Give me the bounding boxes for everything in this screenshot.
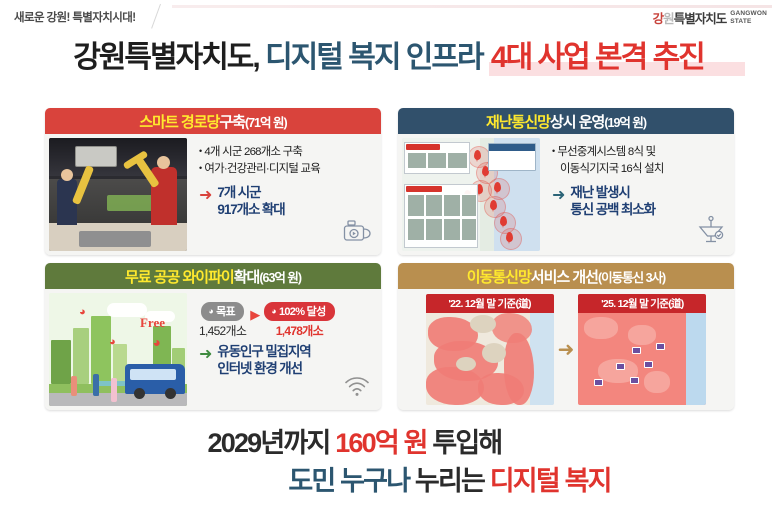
list-item: 4개 시군 268개소 구축 — [199, 144, 373, 161]
coverage-map-before: '22. 12월 말 기준(道) — [426, 294, 554, 405]
card-header-highlight: 재난통신망 — [486, 111, 550, 132]
footer-line2-red: 디지털 복지 — [490, 466, 611, 496]
map-legend — [488, 143, 536, 171]
conclusion-text: 유동인구 밀집지역 인터넷 환경 개선 — [217, 343, 310, 377]
wifi-icon — [343, 375, 371, 402]
top-bar: 새로운 강원! 특별자치시대! 강원특별자치도 GANGWON STATE — [0, 0, 779, 33]
card-header-highlight: 무료 공공 와이파이 — [125, 266, 234, 287]
card-header-rest: 서비스 개선 — [531, 266, 598, 287]
wifi-icon: ◕ — [153, 337, 161, 348]
conclusion-line-1: 재난 발생시 — [570, 185, 629, 200]
bus-graphic — [125, 364, 185, 394]
satellite-dish-icon — [696, 214, 726, 249]
senior-center-photo — [49, 138, 187, 251]
card-body: ◕ ◕ ◕ Free ◕ 목표 1,452개소 ▶ — [45, 289, 381, 410]
card-header-amount: (19억 원) — [604, 112, 646, 131]
brand-logo: 강원특별자치도 GANGWON STATE — [653, 8, 767, 27]
coverage-before-image — [426, 313, 554, 405]
achieved-pill: ◕ 102% 달성 — [264, 302, 334, 321]
bullet-list: 무선중계시스템 8식 및 이동식기지국 16식 설치 — [552, 144, 726, 177]
coverage-before-caption: '22. 12월 말 기준(道) — [426, 294, 554, 313]
card-public-wifi[interactable]: 무료 공공 와이파이 확대(63억 원) — [45, 263, 381, 410]
card-mobile-network[interactable]: 이동통신망 서비스 개선(이동통신 3사) '22. 12월 말 기준(道) — [398, 263, 734, 410]
page-title: 강원특별자치도, 디지털 복지 인프라 4대 사업 본격 추진 — [0, 38, 779, 78]
conclusion-line-1: 유동인구 밀집지역 — [217, 344, 310, 359]
list-item: 이동식기지국 16식 설치 — [552, 161, 726, 178]
goal-pill: ◕ 목표 — [201, 302, 244, 321]
tagline-divider — [151, 4, 161, 29]
card-body: 4개 시군 268개소 구축 여가·건강관리·디지털 교육 ➜ 7개 시군 91… — [45, 134, 381, 255]
title-part-red: 4대 사업 본격 추진 — [489, 41, 706, 74]
brand-en-line2: STATE — [730, 18, 767, 26]
achieved-pill-label: 102% 달성 — [279, 303, 326, 319]
list-item: 무선중계시스템 8식 및 — [552, 144, 726, 161]
title-part-black: 강원특별자치도, — [73, 41, 265, 74]
footer-line-2: 도민 누구나 누리는 디지털 복지 — [0, 462, 779, 500]
brand-korean-name: 강원특별자치도 — [653, 8, 727, 27]
wifi-icon: ◕ — [208, 306, 213, 316]
brand-ko-1: 강 — [653, 12, 664, 26]
card-header: 이동통신망 서비스 개선(이동통신 3사) — [398, 263, 734, 289]
coverage-comparison: '22. 12월 말 기준(道) ➜ — [402, 293, 730, 406]
arrow-right-icon: ➜ — [558, 340, 575, 360]
card-header-amount: (이동통신 3사) — [598, 267, 665, 286]
card-header-rest: 확대 — [234, 266, 260, 287]
arrow-right-icon: ➜ — [199, 188, 212, 204]
wifi-metrics: ◕ 목표 1,452개소 ▶ ◕ 102% 달성 1,478개소 — [199, 301, 373, 339]
footer-message: 2029년까지 160억 원 투입해 도민 누구나 누리는 디지털 복지 — [0, 424, 779, 500]
conclusion-line-2: 917개소 확대 — [217, 202, 284, 217]
wifi-icon: ◕ — [79, 307, 86, 318]
conclusion-text: 재난 발생시 통신 공백 최소화 — [570, 184, 655, 218]
conclusion-line-1: 7개 시군 — [217, 185, 260, 200]
goal-metric: ◕ 목표 1,452개소 — [199, 301, 246, 339]
tagline: 새로운 강원! 특별자치시대! — [14, 9, 135, 25]
card-conclusion: ➜ 7개 시군 917개소 확대 — [199, 184, 373, 218]
card-text: ◕ 목표 1,452개소 ▶ ◕ 102% 달성 1,478개소 — [193, 293, 377, 406]
chevron-right-icon: ▶ — [250, 308, 260, 321]
card-grid: 스마트 경로당 구축(71억 원) 4개 시군 268개소 구축 여가·건강관리… — [45, 108, 734, 415]
footer-line1-amount: 160억 원 — [335, 428, 426, 458]
card-text: 4개 시군 268개소 구축 여가·건강관리·디지털 교육 ➜ 7개 시군 91… — [193, 138, 377, 251]
card-header-amount: (63억 원) — [259, 267, 301, 286]
arrow-right-icon: ➜ — [199, 347, 212, 363]
achieved-metric: ◕ 102% 달성 1,478개소 — [264, 301, 334, 339]
coverage-map-after: '25. 12월 말 기준(道) — [578, 294, 706, 405]
card-body: 무선중계시스템 8식 및 이동식기지국 16식 설치 ➜ 재난 발생시 통신 공… — [398, 134, 734, 255]
card-disaster-network[interactable]: 재난통신망 상시 운영(19억 원) — [398, 108, 734, 255]
arrow-right-icon: ➜ — [552, 188, 565, 204]
card-header-rest: 구축 — [219, 111, 245, 132]
card-header-highlight: 스마트 경로당 — [139, 111, 219, 132]
wifi-icon: ◕ — [109, 337, 116, 348]
card-body: '22. 12월 말 기준(道) ➜ — [398, 289, 734, 410]
brand-ko-3: 특별자치도 — [674, 12, 727, 26]
card-header: 무료 공공 와이파이 확대(63억 원) — [45, 263, 381, 289]
projector-icon — [343, 218, 373, 249]
goal-pill-label: 목표 — [216, 303, 235, 319]
card-conclusion: ➜ 재난 발생시 통신 공백 최소화 — [552, 184, 726, 218]
card-header-rest: 상시 운영 — [550, 111, 604, 132]
wifi-icon: ◕ — [271, 306, 276, 316]
card-smart-senior-center[interactable]: 스마트 경로당 구축(71억 원) 4개 시군 268개소 구축 여가·건강관리… — [45, 108, 381, 255]
footer-line-1: 2029년까지 160억 원 투입해 — [0, 424, 779, 462]
brand-en-line1: GANGWON — [730, 10, 767, 18]
card-header-amount: (71억 원) — [245, 112, 287, 131]
disaster-coverage-map — [402, 138, 540, 251]
conclusion-line-2: 인터넷 환경 개선 — [217, 361, 302, 376]
card-header-highlight: 이동통신망 — [467, 266, 531, 287]
title-part-navy: 디지털 복지 인프라 — [265, 41, 489, 74]
card-text: 무선중계시스템 8식 및 이동식기지국 16식 설치 ➜ 재난 발생시 통신 공… — [546, 138, 730, 251]
brand-english-name: GANGWON STATE — [730, 10, 767, 25]
photo-strip-top — [404, 142, 470, 174]
card-conclusion: ➜ 유동인구 밀집지역 인터넷 환경 개선 — [199, 343, 373, 377]
conclusion-text: 7개 시군 917개소 확대 — [217, 184, 284, 218]
conclusion-line-2: 통신 공백 최소화 — [570, 202, 655, 217]
footer-line2-navy: 도민 누구나 — [288, 466, 409, 496]
card-header: 재난통신망 상시 운영(19억 원) — [398, 108, 734, 134]
bullet-list: 4개 시군 268개소 구축 여가·건강관리·디지털 교육 — [199, 144, 373, 177]
footer-line2-black: 누리는 — [409, 466, 490, 496]
goal-value: 1,452개소 — [199, 322, 246, 339]
coverage-after-image — [578, 313, 706, 405]
photo-strip-bottom — [404, 184, 478, 248]
coverage-after-caption: '25. 12월 말 기준(道) — [578, 294, 706, 313]
card-header: 스마트 경로당 구축(71억 원) — [45, 108, 381, 134]
city-wifi-illustration: ◕ ◕ ◕ Free — [49, 293, 187, 406]
list-item: 여가·건강관리·디지털 교육 — [199, 161, 373, 178]
footer-line1-part-a: 2029년까지 — [208, 428, 336, 458]
free-label: Free — [140, 315, 165, 331]
achieved-value: 1,478개소 — [264, 322, 334, 339]
footer-line1-part-b: 투입해 — [427, 428, 502, 458]
brand-ko-2: 원 — [663, 12, 674, 26]
